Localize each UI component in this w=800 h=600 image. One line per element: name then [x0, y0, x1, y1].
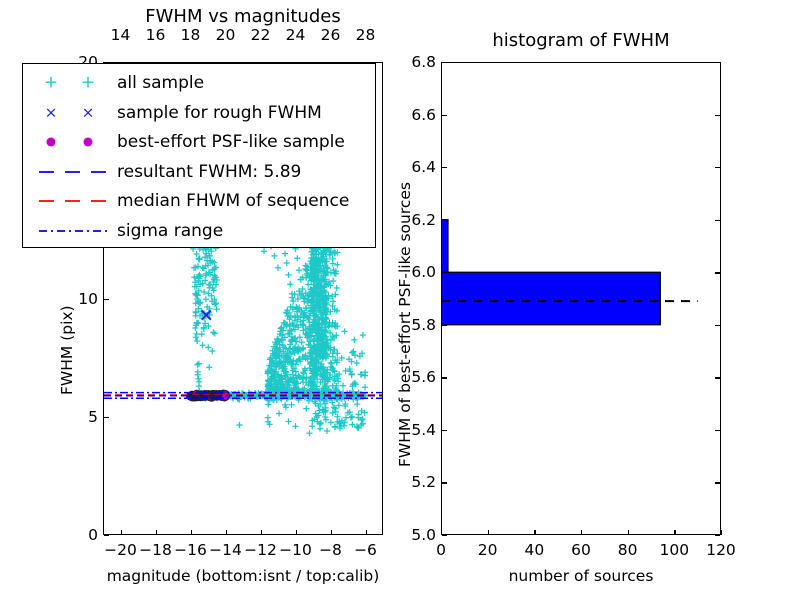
legend-item[interactable]: best-effort PSF-like sample: [31, 127, 345, 157]
histogram-svg: [442, 63, 720, 534]
cross-icon: ×: [82, 105, 95, 120]
legend-item-label: all sample: [117, 73, 204, 93]
left-bottom-tick-label: −8: [319, 541, 342, 559]
left-xaxis-label: magnitude (bottom:isnt / top:calib): [107, 567, 380, 585]
figure-canvas: FWHM vs magnitudes 1416182022242628 −20−…: [0, 0, 800, 600]
legend-marker: [31, 186, 117, 216]
legend-marker: ××: [31, 98, 117, 128]
left-top-tick-label: 20: [216, 26, 236, 44]
left-y-tick-label: 5: [65, 408, 98, 426]
right-y-tick-label: 6.4: [397, 158, 436, 176]
left-top-tick-label: 16: [146, 26, 166, 44]
right-x-tick-label: 20: [478, 541, 498, 559]
dash-dot-icon: [37, 221, 111, 241]
right-plot-title: histogram of FWHM: [492, 30, 669, 51]
right-x-tick-label: 80: [618, 541, 638, 559]
left-top-tick-label: 26: [321, 26, 341, 44]
left-top-tick-label: 28: [356, 26, 376, 44]
left-plot-title: FWHM vs magnitudes: [145, 6, 340, 27]
right-x-tick-label: 60: [571, 541, 591, 559]
plus-icon: +: [81, 75, 95, 92]
right-x-tick-label: 120: [706, 541, 736, 559]
left-bottom-tick-label: −6: [354, 541, 377, 559]
right-x-tick-label: 0: [436, 541, 446, 559]
left-bottom-tick-label: −16: [174, 541, 207, 559]
left-bottom-tick-label: −14: [209, 541, 242, 559]
histogram-bar: [442, 272, 660, 325]
legend-item[interactable]: ++all sample: [31, 68, 204, 98]
histogram-bars: [442, 220, 660, 325]
left-yaxis-label: FWHM (pix): [58, 305, 76, 395]
legend-item[interactable]: median FHWM of sequence: [31, 186, 349, 216]
legend-item-label: sigma range: [117, 221, 223, 241]
legend-item[interactable]: resultant FWHM: 5.89: [31, 157, 301, 187]
legend-item[interactable]: sigma range: [31, 216, 223, 246]
left-top-tick-label: 22: [251, 26, 271, 44]
circle-icon: [84, 138, 93, 147]
right-y-tick-label: 6.6: [397, 106, 436, 124]
left-bottom-tick-label: −10: [279, 541, 312, 559]
left-y-tick-label: 0: [65, 526, 98, 544]
legend-marker: ++: [31, 68, 117, 98]
right-x-tick: [721, 530, 722, 535]
legend-box: ++all sample××sample for rough FWHMbest-…: [22, 63, 376, 248]
dashed-line-icon: [37, 191, 111, 211]
right-y-tick-right: [715, 535, 720, 536]
legend-item[interactable]: ××sample for rough FWHM: [31, 98, 322, 128]
right-y-tick-label: 5.2: [397, 473, 436, 491]
left-y-tick: [104, 535, 109, 536]
all-sample-points: [189, 224, 368, 437]
legend-marker: [31, 216, 117, 246]
legend-marker: [31, 157, 117, 187]
legend-item-label: median FHWM of sequence: [117, 191, 349, 211]
right-x-tick-label: 40: [524, 541, 544, 559]
right-yaxis-label: FWHM of best-effort PSF-like sources: [396, 182, 414, 467]
right-plot-data-layer: [442, 63, 720, 534]
legend-item-label: best-effort PSF-like sample: [117, 132, 345, 152]
right-x-tick-label: 100: [660, 541, 690, 559]
left-top-tick-label: 18: [181, 26, 201, 44]
left-bottom-tick-label: −12: [244, 541, 277, 559]
plus-icon: +: [44, 75, 58, 92]
circle-icon: [47, 138, 56, 147]
left-top-tick-label: 14: [111, 26, 131, 44]
cross-icon: ×: [45, 105, 58, 120]
legend-marker: [31, 127, 117, 157]
right-y-tick-label: 5.0: [397, 526, 436, 544]
right-y-tick-label: 6.8: [397, 53, 436, 71]
dashed-line-icon: [37, 162, 111, 182]
right-y-tick-left: [442, 535, 447, 536]
histogram-bar: [442, 220, 448, 273]
legend-item-label: sample for rough FWHM: [117, 103, 322, 123]
left-bottom-tick-label: −20: [104, 541, 137, 559]
legend-item-label: resultant FWHM: 5.89: [117, 162, 301, 182]
right-xaxis-label: number of sources: [509, 567, 654, 585]
left-bottom-tick-label: −18: [139, 541, 172, 559]
left-top-tick-label: 24: [286, 26, 306, 44]
